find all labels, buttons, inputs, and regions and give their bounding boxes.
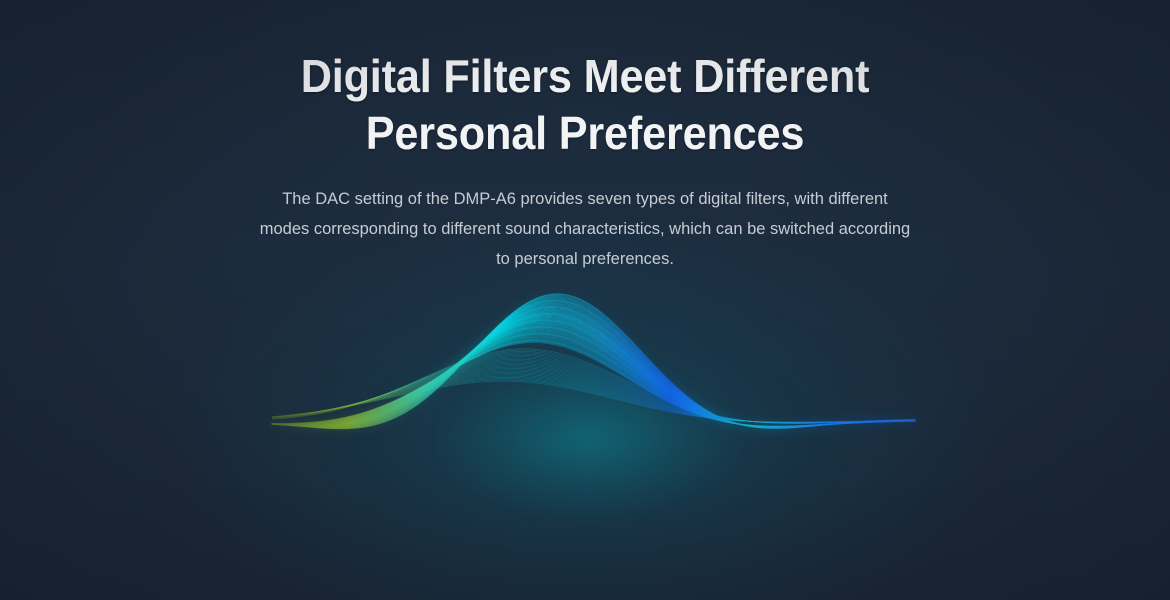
page-subtitle-line-2: modes corresponding to different sound c… bbox=[202, 214, 968, 244]
waveform-svg bbox=[0, 270, 1170, 600]
page-title-line-2: Personal Preferences bbox=[35, 105, 1135, 162]
waveform-curve-family-sharp bbox=[272, 294, 915, 429]
page-title: Digital Filters Meet Different Personal … bbox=[35, 0, 1135, 162]
page-title-line-1: Digital Filters Meet Different bbox=[35, 48, 1135, 105]
hero-banner: Digital Filters Meet Different Personal … bbox=[0, 0, 1170, 600]
waveform-curve bbox=[272, 306, 915, 428]
hero-text-block: Digital Filters Meet Different Personal … bbox=[0, 0, 1170, 274]
page-subtitle: The DAC setting of the DMP-A6 provides s… bbox=[202, 162, 968, 274]
waveform-graphic bbox=[0, 270, 1170, 600]
page-subtitle-line-1: The DAC setting of the DMP-A6 provides s… bbox=[202, 184, 968, 214]
